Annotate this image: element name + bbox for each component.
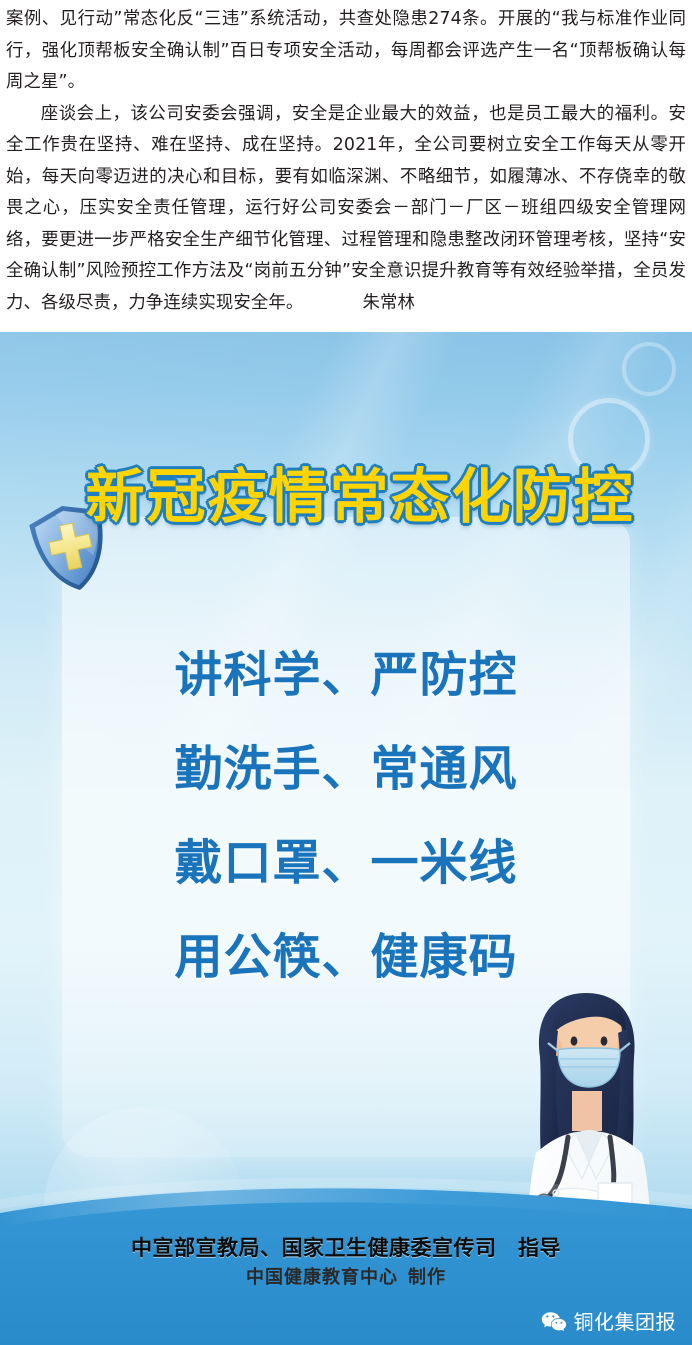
poster-slogan-line: 讲科学、严防控: [62, 628, 630, 722]
poster-slogan-line: 勤洗手、常通风: [62, 722, 630, 816]
poster-headline: 新冠疫情常态化防控: [52, 456, 668, 538]
footer-producer-line: 中国健康教育中心制作: [0, 1263, 692, 1293]
poster-footer-credits: 中宣部宣教局、国家卫生健康委宣传司 指导 中国健康教育中心制作: [0, 1233, 692, 1293]
decorative-bubble-icon: [622, 342, 676, 396]
wechat-watermark: 铜化集团报: [541, 1311, 677, 1333]
footer-producer-role: 制作: [408, 1267, 446, 1288]
covid-prevention-poster: 新冠疫情常态化防控 讲科学、严防控 勤洗手、常通风 戴口罩、一米线 用公筷、健康…: [0, 332, 692, 1345]
article-paragraph: 座谈会上，该公司安委会强调，安全是企业最大的效益，也是员工最大的福利。安全工作贵…: [6, 99, 686, 320]
footer-guidance-line: 中宣部宣教局、国家卫生健康委宣传司 指导: [0, 1233, 692, 1263]
article-paragraph: 案例、见行动”常态化反“三违”系统活动，共查处隐患274条。开展的“我与标准作业…: [6, 4, 686, 99]
watermark-label: 铜化集团报: [574, 1311, 677, 1333]
article-signature: 朱常林: [328, 288, 415, 320]
poster-slogan-line: 戴口罩、一米线: [62, 816, 630, 910]
paragraph-text: 座谈会上，该公司安委会强调，安全是企业最大的效益，也是员工最大的福利。安全工作贵…: [6, 104, 686, 313]
article-body: 案例、见行动”常态化反“三违”系统活动，共查处隐患274条。开展的“我与标准作业…: [0, 0, 692, 319]
poster-slogan-list: 讲科学、严防控 勤洗手、常通风 戴口罩、一米线 用公筷、健康码: [62, 628, 630, 1004]
wechat-icon: [541, 1311, 567, 1333]
poster-headline-row: 新冠疫情常态化防控: [0, 456, 692, 560]
footer-producer-org: 中国健康教育中心: [246, 1267, 398, 1288]
